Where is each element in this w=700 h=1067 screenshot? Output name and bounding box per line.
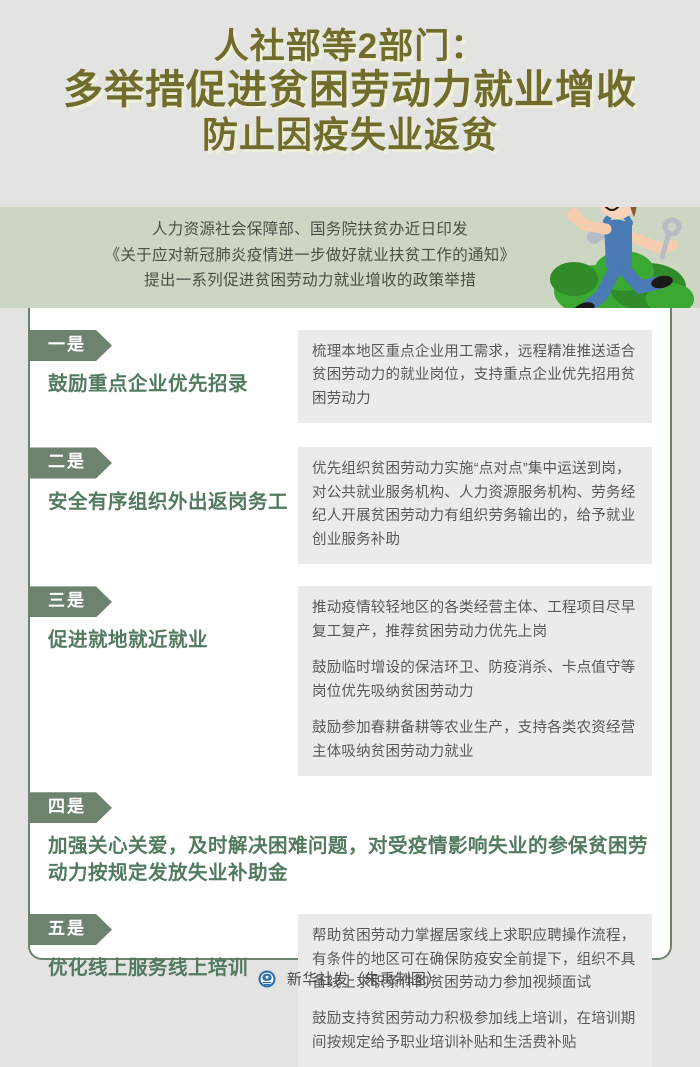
section-1-paragraph-1: 梳理本地区重点企业用工需求，远程精准推送适合贫困劳动力的就业岗位，支持重点企业优… [312, 341, 638, 411]
xinhua-logo-icon [258, 970, 276, 992]
page-title: 人社部等2部门： 多举措促进贫困劳动力就业增收 防止因疫失业返贫 [0, 0, 700, 167]
subtitle-line-2: 《关于应对新冠肺炎疫情进一步做好就业扶贫工作的通知》 [0, 243, 620, 269]
subtitle-band: 人力资源社会保障部、国务院扶贫办近日印发 《关于应对新冠肺炎疫情进一步做好就业扶… [0, 207, 700, 308]
section-2-tag: 二是 [30, 447, 112, 478]
section-4-tag: 四是 [30, 792, 112, 823]
section-1-left: 一是 鼓励重点企业优先招录 [30, 330, 298, 397]
section-5-paragraph-2: 鼓励支持贫困劳动力积极参加线上培训，在培训期间按规定给予职业培训补贴和生活费补贴 [312, 1008, 638, 1055]
section-3-left: 三是 促进就地就近就业 [30, 586, 298, 653]
section-2: 二是 安全有序组织外出返岗务工 优先组织贫困劳动力实施“点对点”集中运送到岗，对… [30, 423, 670, 564]
section-4: 四是 加强关心关爱，及时解决困难问题，对受疫情影响失业的参保贫困劳动力按规定发放… [30, 776, 670, 886]
title-line-2: 多举措促进贫困劳动力就业增收 [20, 67, 680, 114]
section-3-heading: 促进就地就近就业 [48, 627, 298, 653]
subtitle-line-1: 人力资源社会保障部、国务院扶贫办近日印发 [0, 217, 620, 243]
section-2-heading: 安全有序组织外出返岗务工 [48, 489, 298, 515]
footer-credit: 新华社发（朱禹制图） [0, 968, 700, 992]
section-3-paragraph-3: 鼓励参加春耕备耕等农业生产，支持各类农资经营主体吸纳贫困劳动力就业 [312, 717, 638, 764]
section-3-paragraph-2: 鼓励临时增设的保洁环卫、防疫消杀、卡点值守等岗位优先吸纳贫困劳动力 [312, 657, 638, 704]
section-4-left: 四是 加强关心关爱，及时解决困难问题，对受疫情影响失业的参保贫困劳动力按规定发放… [30, 792, 670, 886]
footer-credit-text: 新华社发（朱禹制图） [287, 971, 442, 988]
section-3-panel: 推动疫情较轻地区的各类经营主体、工程项目尽早复工复产，推荐贫困劳动力优先上岗 鼓… [298, 586, 652, 776]
section-1: 一是 鼓励重点企业优先招录 梳理本地区重点企业用工需求，远程精准推送适合贫困劳动… [30, 308, 670, 423]
section-3-paragraph-1: 推动疫情较轻地区的各类经营主体、工程项目尽早复工复产，推荐贫困劳动力优先上岗 [312, 597, 638, 644]
section-1-heading: 鼓励重点企业优先招录 [48, 371, 298, 397]
subtitle-text: 人力资源社会保障部、国务院扶贫办近日印发 《关于应对新冠肺炎疫情进一步做好就业扶… [0, 217, 620, 294]
section-1-tag: 一是 [30, 330, 112, 361]
title-line-1: 人社部等2部门： [20, 26, 680, 67]
section-2-panel: 优先组织贫困劳动力实施“点对点”集中运送到岗，对公共就业服务机构、人力资源服务机… [298, 447, 652, 564]
section-4-heading: 加强关心关爱，及时解决困难问题，对受疫情影响失业的参保贫困劳动力按规定发放失业补… [48, 833, 670, 886]
section-3: 三是 促进就地就近就业 推动疫情较轻地区的各类经营主体、工程项目尽早复工复产，推… [30, 564, 670, 776]
measures-card: 一是 鼓励重点企业优先招录 梳理本地区重点企业用工需求，远程精准推送适合贫困劳动… [28, 308, 672, 960]
section-3-tag: 三是 [30, 586, 112, 617]
title-line-3: 防止因疫失业返贫 [20, 114, 680, 156]
subtitle-line-3: 提出一系列促进贫困劳动力就业增收的政策举措 [0, 268, 620, 294]
section-2-paragraph-1: 优先组织贫困劳动力实施“点对点”集中运送到岗，对公共就业服务机构、人力资源服务机… [312, 458, 638, 552]
section-2-left: 二是 安全有序组织外出返岗务工 [30, 447, 298, 514]
section-1-panel: 梳理本地区重点企业用工需求，远程精准推送适合贫困劳动力的就业岗位，支持重点企业优… [298, 330, 652, 423]
running-worker-illustration [536, 207, 696, 308]
section-5-tag: 五是 [30, 914, 112, 945]
